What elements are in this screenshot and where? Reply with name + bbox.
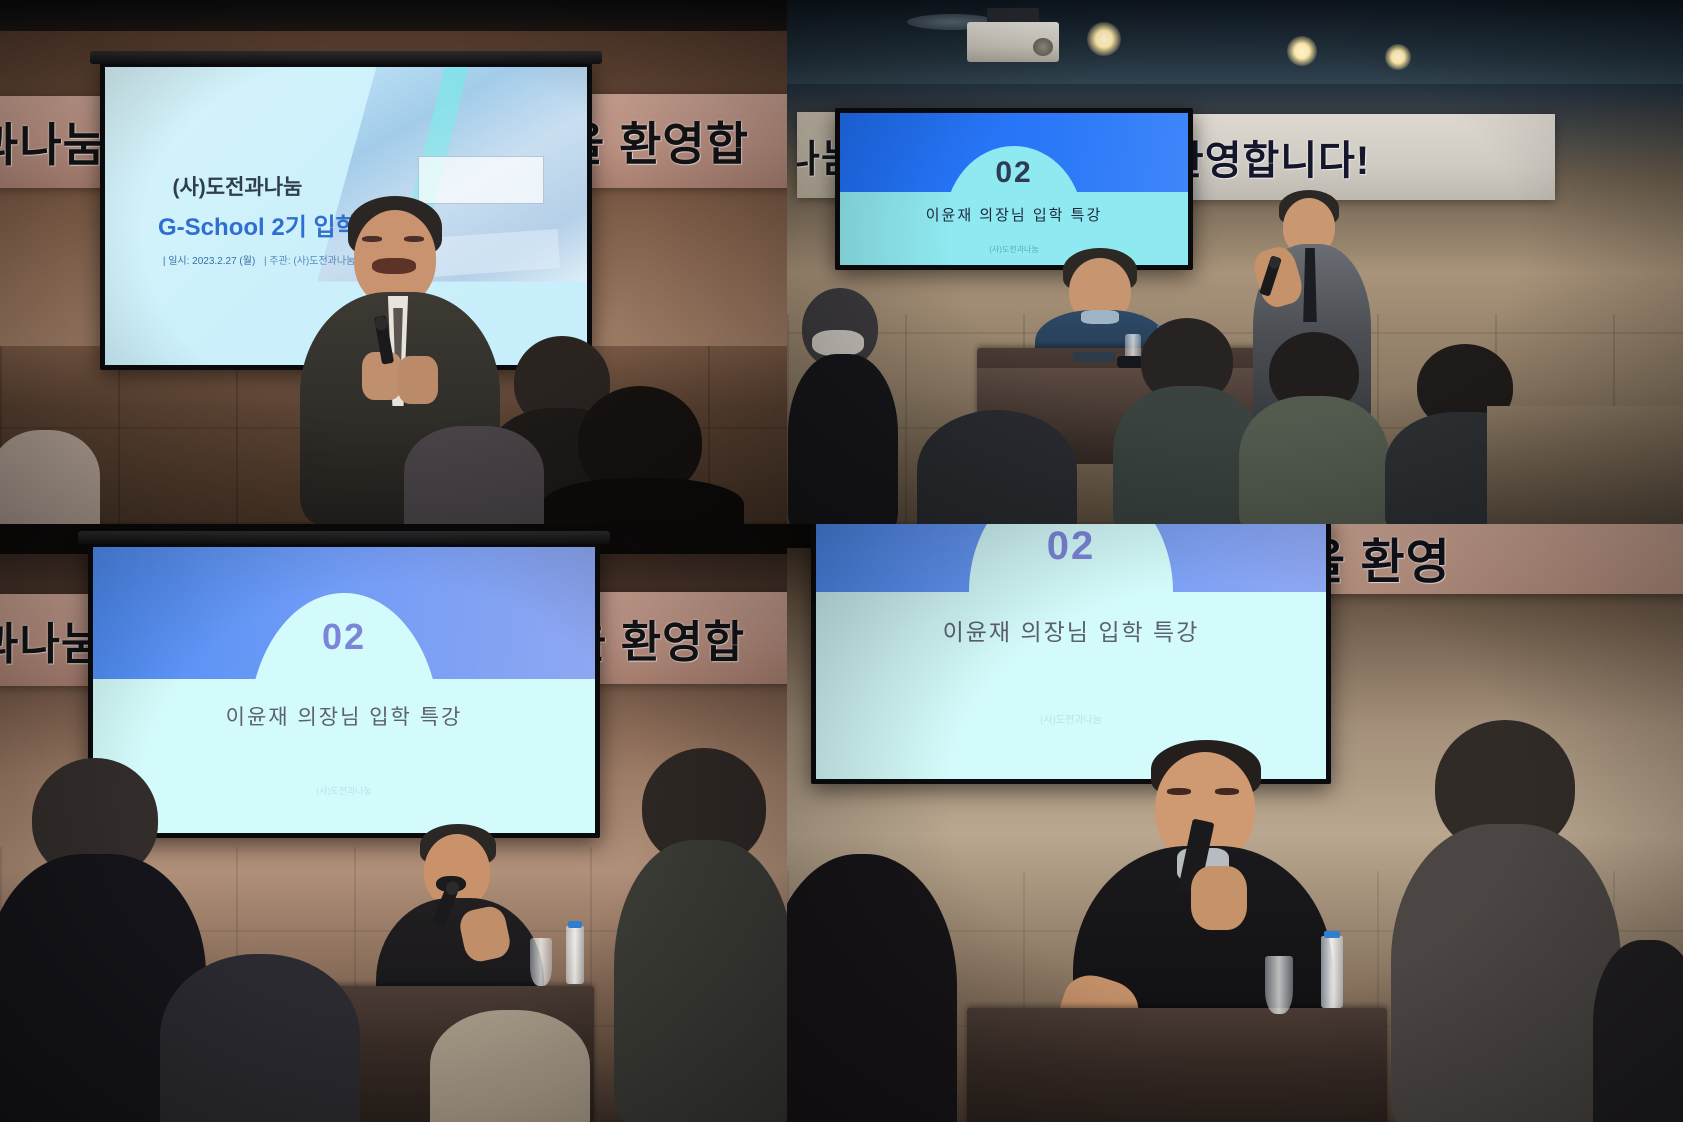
audience-body-3 xyxy=(404,426,544,524)
wall-banner-3-right: 을 환영합 xyxy=(576,592,787,684)
audience-body-5 xyxy=(788,354,898,524)
banner-text-3-right: 을 환영합 xyxy=(576,606,745,670)
panel-top-right: 을 환영합니다! 나눔 02 이윤재 의장님 입학 특강 (사)도전과나눔 xyxy=(787,0,1683,524)
ceiling-light-2 xyxy=(1287,36,1317,66)
audience-body-2 xyxy=(542,478,744,524)
face-mask xyxy=(812,330,864,356)
audience-body-6 xyxy=(917,410,1077,524)
slide-subtitle-3: 이윤재 의장님 입학 특강 xyxy=(226,701,463,731)
front-table-4 xyxy=(967,1008,1387,1122)
audience-body-16 xyxy=(1593,940,1683,1122)
audience-body-13 xyxy=(430,1010,590,1122)
audience-silhouette-12 xyxy=(614,748,787,1122)
screen-surface-2: 02 이윤재 의장님 입학 특강 (사)도전과나눔 xyxy=(840,113,1188,265)
slide-number-4: 02 xyxy=(1047,524,1096,569)
audience-body-15 xyxy=(787,854,957,1122)
chairman-4-hand-right xyxy=(1191,866,1247,930)
audience-body-11 xyxy=(160,954,360,1122)
audience-silhouette-6 xyxy=(917,410,1077,524)
water-glass-4 xyxy=(1265,956,1293,1014)
water-glass-3 xyxy=(530,938,552,986)
side-table xyxy=(1487,406,1683,524)
slide-subtitle-4: 이윤재 의장님 입학 특강 xyxy=(943,613,1200,647)
audience-body-12 xyxy=(614,840,787,1122)
photo-collage: 과나눔 을 환영합 (사)도전과나눔 G-School 2기 입학식 | 일시:… xyxy=(0,0,1683,1122)
panel-bottom-left: 과나눔 을 환영합 02 이윤재 의장님 입학 특강 (사)도전과나눔 xyxy=(0,524,787,1122)
screen-roller-3 xyxy=(78,531,610,544)
audience-silhouette-14 xyxy=(1391,720,1621,1122)
slide-number-3: 02 xyxy=(322,616,366,658)
wall-banner-left: 과나눔 xyxy=(0,96,110,188)
audience-silhouette-8 xyxy=(1239,332,1389,524)
bottle-cap-4 xyxy=(1324,931,1341,938)
audience-silhouette-3 xyxy=(404,426,544,524)
panel-top-left: 과나눔 을 환영합 (사)도전과나눔 G-School 2기 입학식 | 일시:… xyxy=(0,0,787,524)
slide-subtitle-2: 이윤재 의장님 입학 특강 xyxy=(926,204,1103,225)
wall-banner-4: 을 환영 xyxy=(1307,524,1683,594)
speaker-3-head xyxy=(424,834,490,908)
speaker-eye-right xyxy=(404,236,424,242)
chairman-4-eye-left xyxy=(1167,788,1191,795)
speaker-hand-right xyxy=(398,356,438,404)
banner-text-left: 과나눔 xyxy=(0,109,106,175)
slide-org-name: (사)도전과나눔 xyxy=(172,171,302,201)
ceiling-edge xyxy=(0,0,787,31)
slide-logo-3: (사)도전과나눔 xyxy=(316,784,372,797)
slide-number-2: 02 xyxy=(995,156,1032,190)
projection-screen-2: 02 이윤재 의장님 입학 특강 (사)도전과나눔 xyxy=(835,108,1193,270)
audience-silhouette-2 xyxy=(542,386,744,524)
audience-silhouette-16 xyxy=(1593,940,1683,1122)
laptop-closed xyxy=(1073,352,1115,362)
ceiling-light-3 xyxy=(1385,44,1411,70)
slide-logo-4: (사)도전과나눔 xyxy=(1040,711,1102,726)
bottle-cap-3 xyxy=(568,921,582,928)
ceiling-2 xyxy=(787,0,1683,84)
panel-bottom-right: 을 환영 02 이윤재 의장님 입학 특강 (사)도전과나눔 xyxy=(787,524,1683,1122)
audience-silhouette-13 xyxy=(430,1010,590,1122)
microphone-head xyxy=(374,315,388,331)
banner-text-right: 을 환영합 xyxy=(572,108,749,174)
audience-body-14 xyxy=(1391,824,1621,1122)
audience-body-4 xyxy=(0,430,100,524)
speaker-mouth xyxy=(372,258,416,274)
water-bottle-3 xyxy=(566,926,584,984)
audience-body-8 xyxy=(1239,396,1389,524)
audience-silhouette-5 xyxy=(788,288,898,524)
chairman-4-eye-right xyxy=(1215,788,1239,795)
speaker-eye-left xyxy=(362,236,382,242)
slide-meta-date: | 일시: 2023.2.27 (월) xyxy=(163,252,255,267)
audience-silhouette-15 xyxy=(787,854,957,1122)
slide-logo-2: (사)도전과나눔 xyxy=(989,244,1039,255)
audience-silhouette-4 xyxy=(0,430,100,524)
microphone-head-4 xyxy=(1189,819,1215,842)
screen-roller xyxy=(90,51,602,64)
slide-section-2: 02 이윤재 의장님 입학 특강 (사)도전과나눔 xyxy=(840,113,1188,265)
ceiling-projector xyxy=(967,22,1059,62)
audience-silhouette-11 xyxy=(160,954,360,1122)
water-bottle-4 xyxy=(1321,936,1343,1008)
ceiling-light-1 xyxy=(1087,22,1121,56)
wall-banner-right: 을 환영합 xyxy=(572,94,787,188)
